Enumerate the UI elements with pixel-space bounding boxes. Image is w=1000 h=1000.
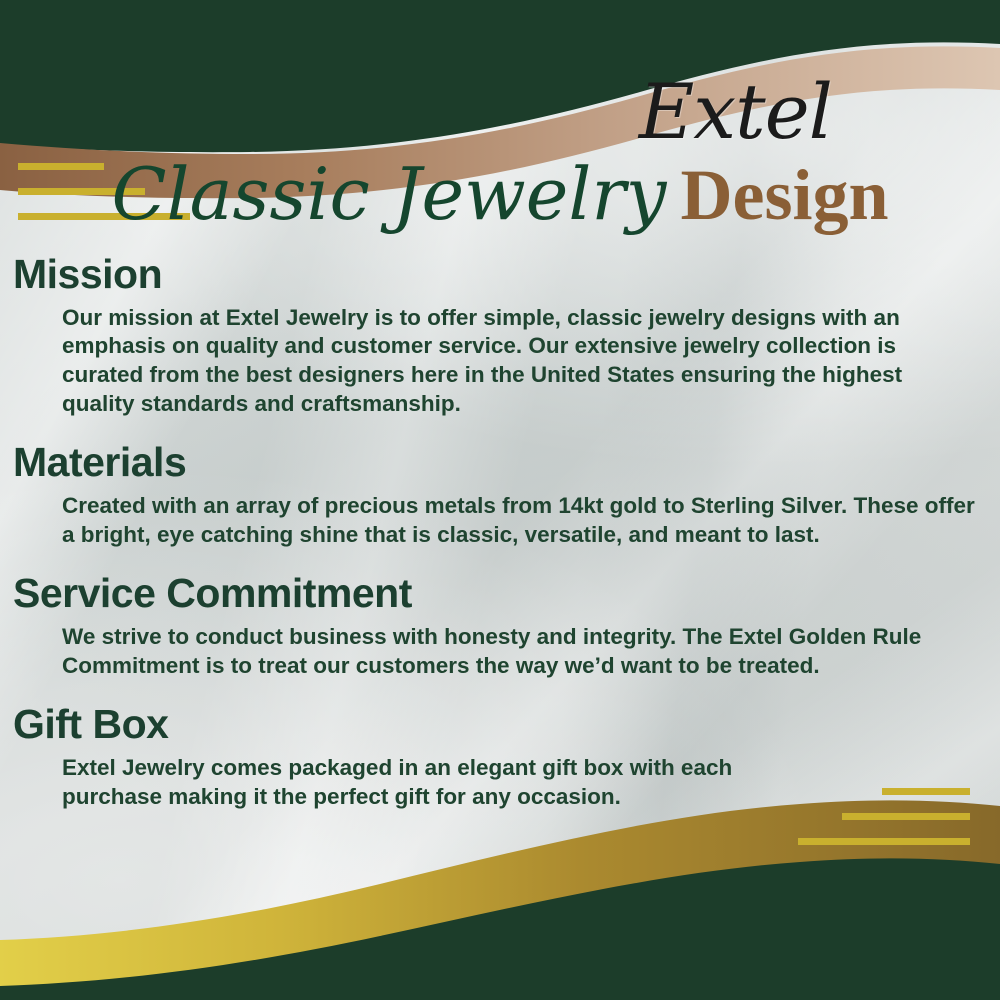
title-script-part: Classic Jewelry — [111, 152, 666, 236]
section-body-materials: Created with an array of precious metals… — [62, 492, 977, 549]
decorative-rules-bottom-right — [798, 788, 970, 845]
section-materials: Materials Created with an array of preci… — [13, 440, 985, 549]
section-heading-service-commitment: Service Commitment — [13, 571, 985, 617]
section-body-gift-box: Extel Jewelry comes packaged in an elega… — [62, 754, 762, 811]
gold-rule-line — [842, 813, 970, 820]
brand-logo: Extel — [639, 74, 832, 150]
section-heading-gift-box: Gift Box — [13, 702, 985, 748]
section-service-commitment: Service Commitment We strive to conduct … — [13, 571, 985, 680]
title-accent-part: Design — [680, 155, 888, 235]
gold-rule-line — [798, 838, 970, 845]
section-body-service-commitment: We strive to conduct business with hones… — [62, 623, 977, 680]
section-mission: Mission Our mission at Extel Jewelry is … — [13, 252, 985, 418]
section-body-mission: Our mission at Extel Jewelry is to offer… — [62, 304, 977, 418]
page-title: Classic JewelryDesign — [0, 158, 1000, 231]
gold-rule-line — [882, 788, 970, 795]
content-sections: Mission Our mission at Extel Jewelry is … — [13, 252, 985, 833]
section-heading-mission: Mission — [13, 252, 985, 298]
section-heading-materials: Materials — [13, 440, 985, 486]
poster-canvas: Extel Classic JewelryDesign Mission Our … — [0, 0, 1000, 1000]
